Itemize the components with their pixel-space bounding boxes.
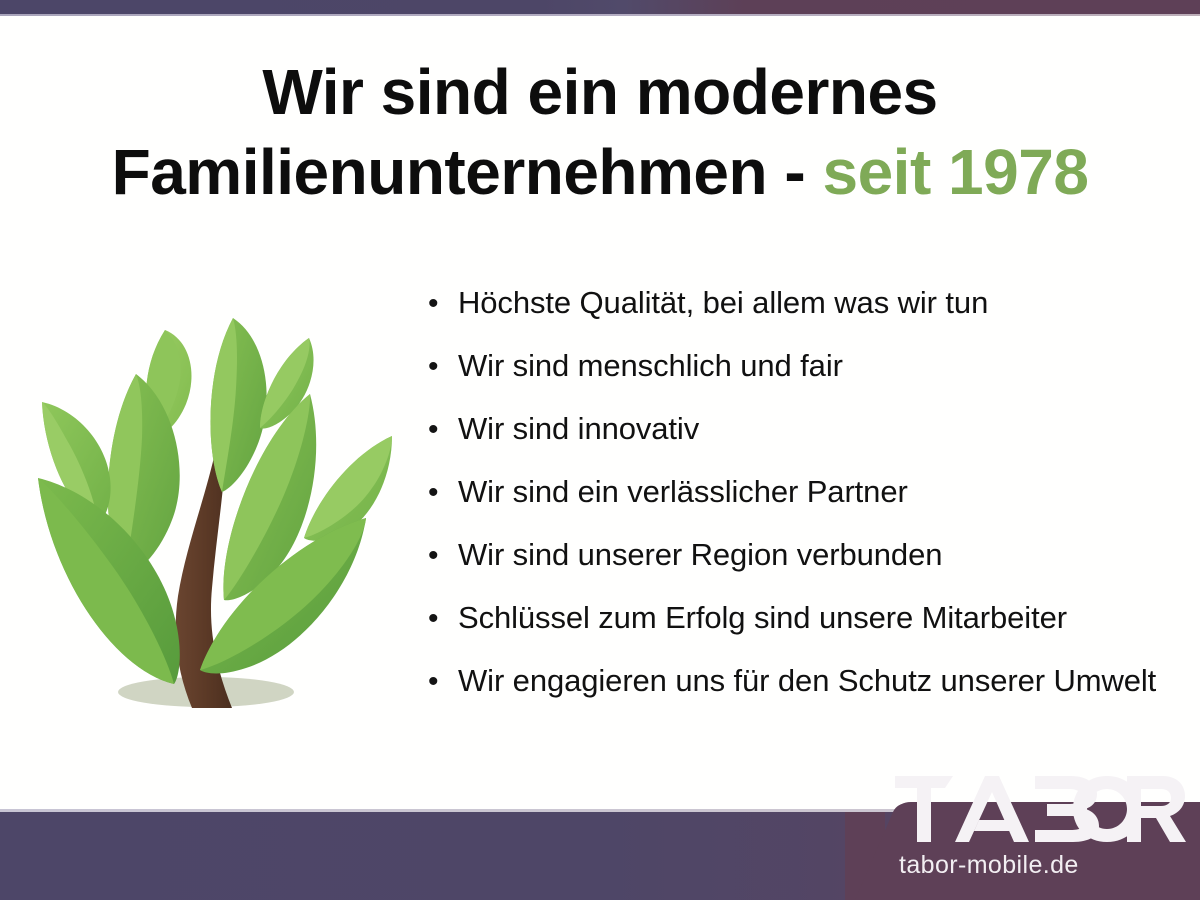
slide-title-line-2: Familienunternehmen - seit 1978 — [0, 132, 1200, 212]
list-item-label: Wir sind innovativ — [458, 412, 1188, 446]
bullet-point-icon: • — [428, 289, 458, 319]
value-bullet-list: • Höchste Qualität, bei allem was wir tu… — [428, 286, 1188, 727]
list-item-label: Wir sind unserer Region verbunden — [458, 538, 1188, 572]
list-item: • Wir sind menschlich und fair — [428, 349, 1188, 412]
list-item-label: Schlüssel zum Erfolg sind unsere Mitarbe… — [458, 601, 1188, 635]
slide-root: Wir sind ein modernes Familienunternehme… — [0, 0, 1200, 900]
top-accent-bar-highlight — [0, 14, 1200, 16]
slide-title-line-1: Wir sind ein modernes — [0, 52, 1200, 132]
bullet-point-icon: • — [428, 352, 458, 382]
slide-title-line-2-main: Familienunternehmen - — [112, 136, 823, 208]
slide-title: Wir sind ein modernes Familienunternehme… — [0, 52, 1200, 212]
list-item: • Wir engagieren uns für den Schutz unse… — [428, 664, 1188, 727]
slide-title-accent: seit 1978 — [822, 136, 1088, 208]
bullet-point-icon: • — [428, 667, 458, 697]
list-item: • Wir sind innovativ — [428, 412, 1188, 475]
top-accent-bar — [0, 0, 1200, 14]
list-item-label: Höchste Qualität, bei allem was wir tun — [458, 286, 1188, 320]
list-item-label: Wir engagieren uns für den Schutz unsere… — [458, 664, 1188, 698]
bullet-point-icon: • — [428, 541, 458, 571]
list-item-label: Wir sind menschlich und fair — [458, 349, 1188, 383]
bullet-point-icon: • — [428, 604, 458, 634]
bullet-point-icon: • — [428, 415, 458, 445]
list-item: • Schlüssel zum Erfolg sind unsere Mitar… — [428, 601, 1188, 664]
list-item: • Wir sind unserer Region verbunden — [428, 538, 1188, 601]
list-item: • Höchste Qualität, bei allem was wir tu… — [428, 286, 1188, 349]
tree-illustration — [20, 296, 416, 716]
brand-logo-panel: tabor-mobile.de — [845, 756, 1200, 900]
list-item-label: Wir sind ein verlässlicher Partner — [458, 475, 1188, 509]
bullet-point-icon: • — [428, 478, 458, 508]
list-item: • Wir sind ein verlässlicher Partner — [428, 475, 1188, 538]
